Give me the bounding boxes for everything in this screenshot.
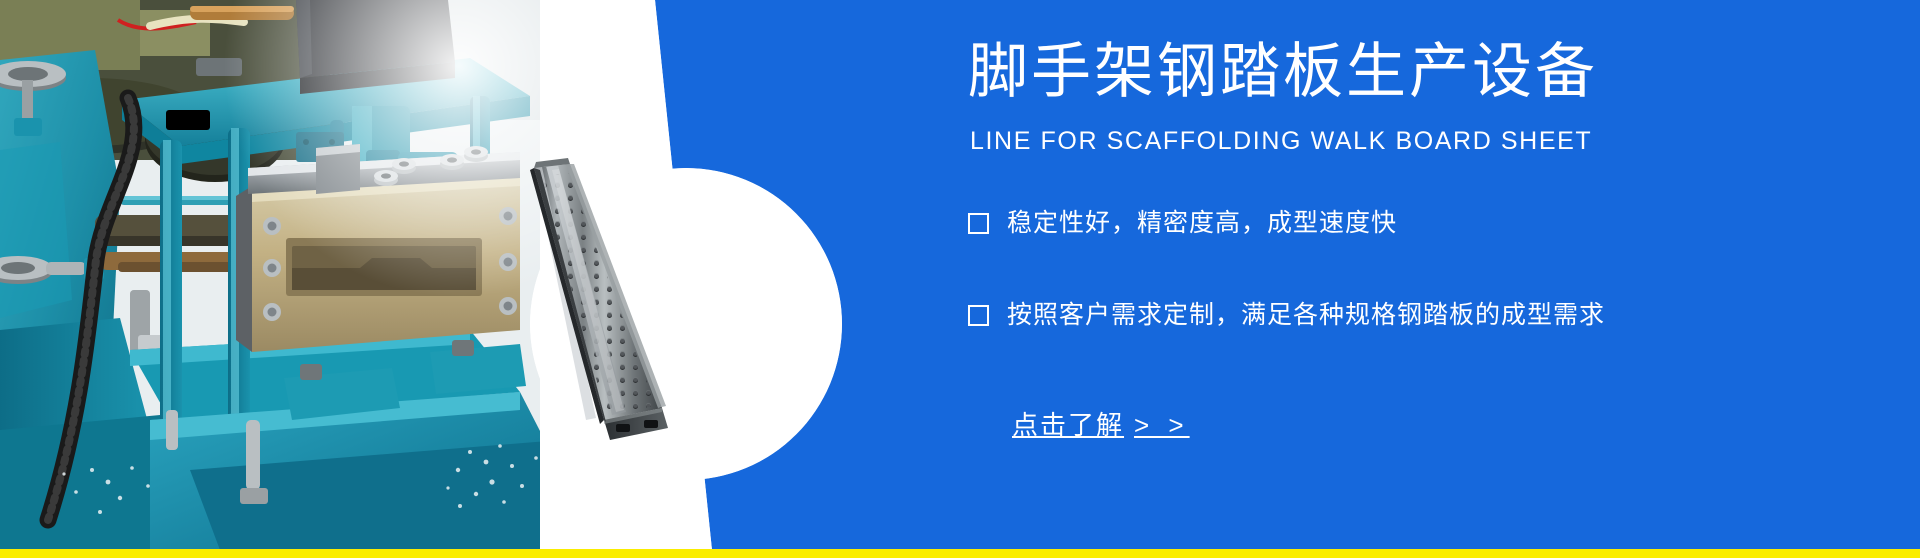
machine-photo [0, 0, 560, 550]
chevron-right-icon: > > [1134, 410, 1190, 440]
bottom-accent-strip [0, 549, 1920, 558]
banner-copy: 脚手架钢踏板生产设备 LINE FOR SCAFFOLDING WALK BOA… [968, 0, 1868, 550]
promo-banner: 脚手架钢踏板生产设备 LINE FOR SCAFFOLDING WALK BOA… [0, 0, 1920, 558]
product-circle-backdrop [530, 168, 842, 480]
page-subtitle: LINE FOR SCAFFOLDING WALK BOARD SHEET [970, 126, 1592, 156]
square-bullet-icon [968, 305, 989, 326]
feature-text: 稳定性好，精密度高，成型速度快 [1007, 206, 1397, 240]
list-item: 按照客户需求定制，满足各种规格钢踏板的成型需求 [968, 288, 1868, 342]
feature-list: 稳定性好，精密度高，成型速度快 按照客户需求定制，满足各种规格钢踏板的成型需求 [968, 196, 1868, 380]
feature-text: 按照客户需求定制，满足各种规格钢踏板的成型需求 [1007, 298, 1605, 332]
learn-more-link[interactable]: 点击了解> > [1012, 408, 1190, 442]
square-bullet-icon [968, 213, 989, 234]
list-item: 稳定性好，精密度高，成型速度快 [968, 196, 1868, 250]
learn-more-label: 点击了解 [1012, 410, 1124, 440]
page-title: 脚手架钢踏板生产设备 [968, 38, 1598, 106]
